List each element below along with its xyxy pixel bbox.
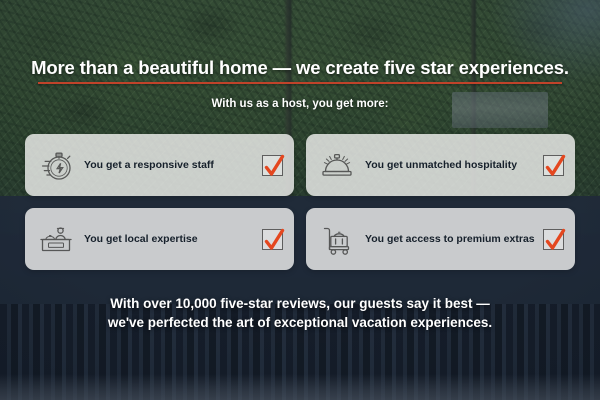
feature-card[interactable]: You get local expertise: [25, 208, 294, 270]
hero-subheadline: With us as a host, you get more:: [0, 98, 600, 110]
hero-headline: More than a beautiful home — we create f…: [0, 57, 600, 79]
stopwatch-speed-icon: [36, 145, 76, 185]
footer-testimonial: With over 10,000 five-star reviews, our …: [0, 294, 600, 332]
feature-checkbox[interactable]: [543, 229, 564, 250]
feature-card-label: You get local expertise: [76, 233, 262, 246]
feature-checkbox[interactable]: [262, 155, 283, 176]
headline-accent-rule: [38, 82, 562, 84]
luggage-cart-icon: [317, 219, 357, 259]
reception-desk-icon: [36, 219, 76, 259]
feature-card-label: You get access to premium extras: [357, 233, 543, 246]
footer-line-2: we've perfected the art of exceptional v…: [0, 313, 600, 332]
footer-text-after: five-star reviews, our guests say it bes…: [217, 296, 490, 311]
feature-card[interactable]: You get unmatched hospitality: [306, 134, 575, 196]
feature-card-label: You get unmatched hospitality: [357, 159, 543, 172]
footer-text-before: With over: [110, 296, 175, 311]
promo-slide: More than a beautiful home — we create f…: [0, 0, 600, 400]
feature-checkbox[interactable]: [543, 155, 564, 176]
feature-card[interactable]: You get a responsive staff: [25, 134, 294, 196]
footer-line-1: With over 10,000 five-star reviews, our …: [0, 294, 600, 313]
feature-card[interactable]: You get access to premium extras: [306, 208, 575, 270]
feature-card-grid: You get a responsive staff: [25, 134, 575, 270]
feature-card-label: You get a responsive staff: [76, 159, 262, 172]
service-bell-icon: [317, 145, 357, 185]
footer-review-count: 10,000: [175, 296, 216, 311]
feature-checkbox[interactable]: [262, 229, 283, 250]
